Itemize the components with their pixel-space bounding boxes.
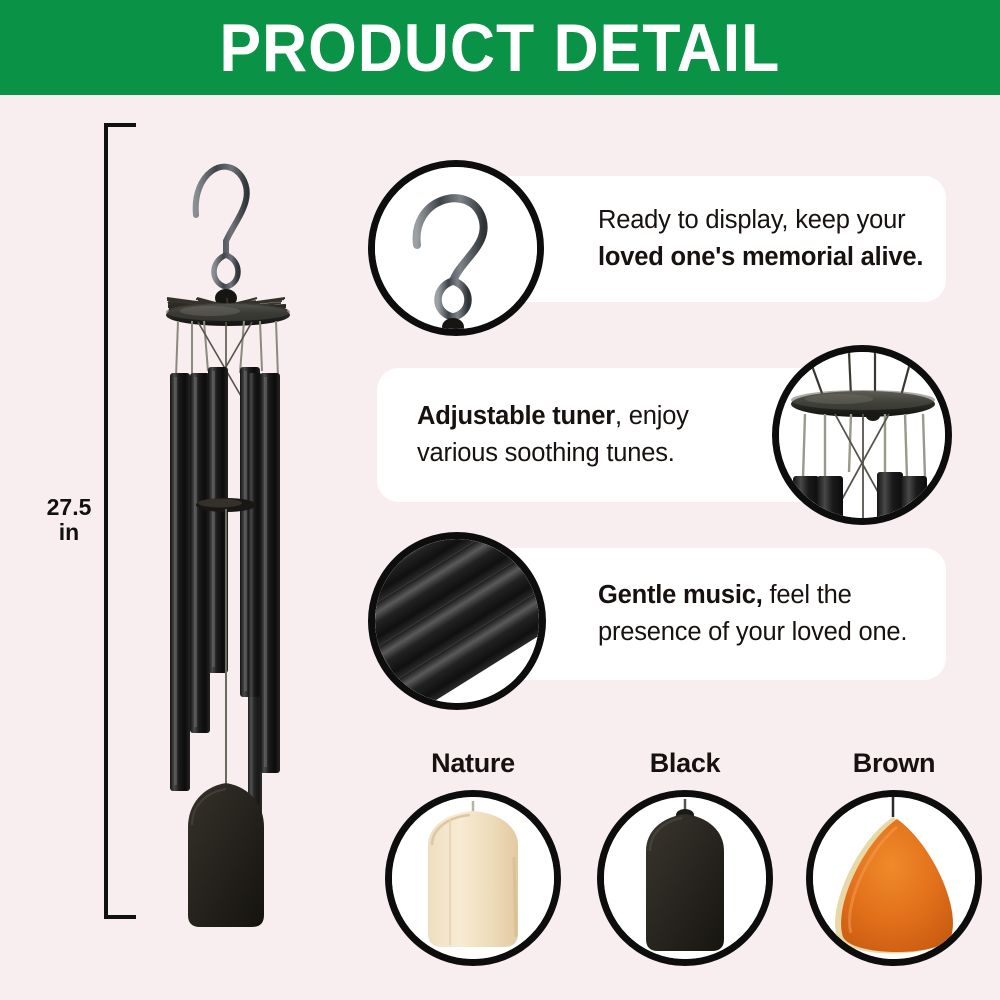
dimension-bracket [104,123,136,919]
feature-adjustable-tuner: Adjustable tuner, enjoy various soothing… [377,345,952,527]
bracket-bottom-tick [104,915,136,919]
bracket-top-tick [104,123,136,127]
feature-1-photo [368,160,544,336]
feature-3-text-bold: Gentle music, [598,581,763,609]
product-windchime-image [140,115,330,945]
feature-3-photo [368,532,546,710]
feature-2-photo [772,345,952,525]
feature-2-text-bold: Adjustable tuner [417,402,615,430]
color-swatch-brown[interactable] [806,790,982,966]
bracket-vertical-line [104,123,108,919]
dimension-value: 27.5 [36,495,102,520]
page-title: PRODUCT DETAIL [220,12,781,84]
feature-ready-to-display: Ready to display, keep your loved one's … [368,160,948,340]
color-swatch-nature[interactable] [385,790,561,966]
color-label-black: Black [597,748,773,779]
color-swatch-black[interactable] [597,790,773,966]
header-banner: PRODUCT DETAIL [0,0,1000,95]
color-label-brown: Brown [806,748,982,779]
dimension-label: 27.5 in [36,495,102,545]
dimension-unit: in [36,520,102,545]
feature-1-text-regular: Ready to display, keep your [598,206,905,234]
feature-gentle-music: Gentle music, feel the presence of your … [368,532,948,714]
feature-1-text-bold: loved one's memorial alive. [598,243,923,271]
color-label-nature: Nature [385,748,561,779]
